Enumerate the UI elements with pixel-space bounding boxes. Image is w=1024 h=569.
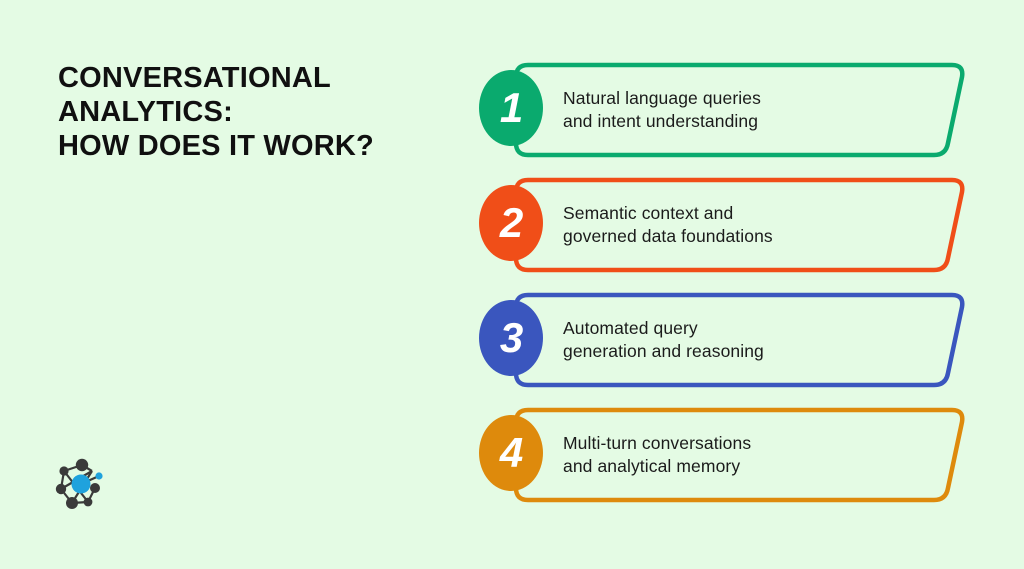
logo-accent-node-small: [95, 472, 102, 479]
step-text-4-line-1: Multi-turn conversations: [563, 432, 943, 455]
logo-graphic: [50, 455, 112, 517]
step-number-3: 3: [479, 298, 543, 378]
step-text-4-line-2: and analytical memory: [563, 455, 943, 478]
network-graph-logo: [50, 455, 112, 517]
page-title: CONVERSATIONAL ANALYTICS: HOW DOES IT WO…: [58, 62, 458, 164]
step-number-2: 2: [479, 183, 543, 263]
logo-accent-node: [72, 475, 91, 494]
slide-canvas: CONVERSATIONAL ANALYTICS: HOW DOES IT WO…: [0, 0, 1024, 569]
step-text-1: Natural language queries and intent unde…: [563, 87, 943, 133]
title-line-1: CONVERSATIONAL: [58, 62, 458, 96]
title-line-3: HOW DOES IT WORK?: [58, 130, 458, 164]
title-line-2: ANALYTICS:: [58, 96, 458, 130]
step-number-1: 1: [479, 68, 543, 148]
step-number-4: 4: [479, 413, 543, 493]
step-item-3[interactable]: 3 Automated query generation and reasoni…: [470, 290, 990, 390]
step-text-2-line-2: governed data foundations: [563, 225, 943, 248]
step-item-1[interactable]: 1 Natural language queries and intent un…: [470, 60, 990, 160]
step-item-4[interactable]: 4 Multi-turn conversations and analytica…: [470, 405, 990, 505]
step-text-2-line-1: Semantic context and: [563, 202, 943, 225]
step-text-3-line-1: Automated query: [563, 317, 943, 340]
step-text-4: Multi-turn conversations and analytical …: [563, 432, 943, 478]
step-text-2: Semantic context and governed data found…: [563, 202, 943, 248]
step-item-2[interactable]: 2 Semantic context and governed data fou…: [470, 175, 990, 275]
step-text-3-line-2: generation and reasoning: [563, 340, 943, 363]
step-text-1-line-1: Natural language queries: [563, 87, 943, 110]
steps-list: 1 Natural language queries and intent un…: [470, 55, 990, 525]
step-text-3: Automated query generation and reasoning: [563, 317, 943, 363]
step-text-1-line-2: and intent understanding: [563, 110, 943, 133]
